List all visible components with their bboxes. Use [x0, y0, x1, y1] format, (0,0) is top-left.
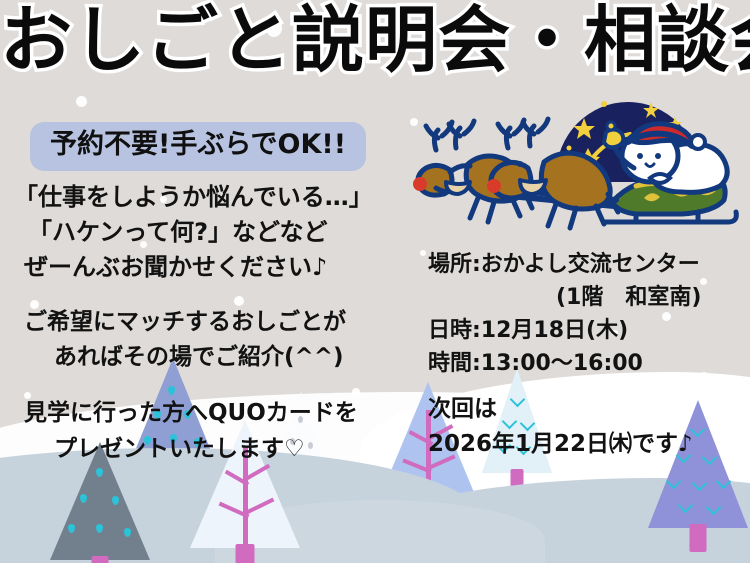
gift-line-1: 見学に行った方へQUOカードを: [24, 395, 358, 431]
gift-line-2: プレゼントいたします♡: [24, 431, 358, 467]
venue-sub-line: (1階 和室南): [428, 281, 701, 314]
no-reservation-badge: 予約不要!手ぶらでOK!!: [30, 122, 366, 171]
time-line: 時間:13:00〜16:00: [428, 347, 701, 380]
next-session-date: 2026年1月22日㈭です♪: [428, 427, 693, 462]
snow-dot: [76, 96, 87, 107]
snow-dot: [420, 250, 426, 256]
match-copy: ご希望にマッチするおしごとが あればその場でご紹介(^^): [24, 305, 346, 375]
intro-line-3: ぜーんぶお聞かせください♪: [14, 250, 373, 285]
match-line-2: あればその場でご紹介(^^): [24, 340, 346, 375]
venue-line: 場所:おかよし交流センター: [428, 248, 701, 281]
next-session: 次回は 2026年1月22日㈭です♪: [428, 392, 693, 462]
date-line: 日時:12月18日(木): [428, 314, 701, 347]
poster-title: おしごと説明会・相談会: [0, 0, 750, 86]
santa-sleigh-illustration: [398, 86, 750, 238]
event-flyer: おしごと説明会・相談会 予約不要!手ぶらでOK!! 「仕事をしようか悩んでいる……: [0, 0, 750, 563]
event-details: 場所:おかよし交流センター (1階 和室南) 日時:12月18日(木) 時間:1…: [428, 248, 701, 380]
next-session-label: 次回は: [428, 392, 693, 427]
intro-line-1: 「仕事をしようか悩んでいる…」: [14, 180, 373, 215]
intro-line-2: 「ハケンって何?」などなど: [14, 215, 373, 250]
gift-copy: 見学に行った方へQUOカードを プレゼントいたします♡: [24, 395, 358, 467]
intro-copy: 「仕事をしようか悩んでいる…」 「ハケンって何?」などなど ぜーんぶお聞かせくだ…: [14, 180, 373, 285]
match-line-1: ご希望にマッチするおしごとが: [24, 305, 346, 340]
